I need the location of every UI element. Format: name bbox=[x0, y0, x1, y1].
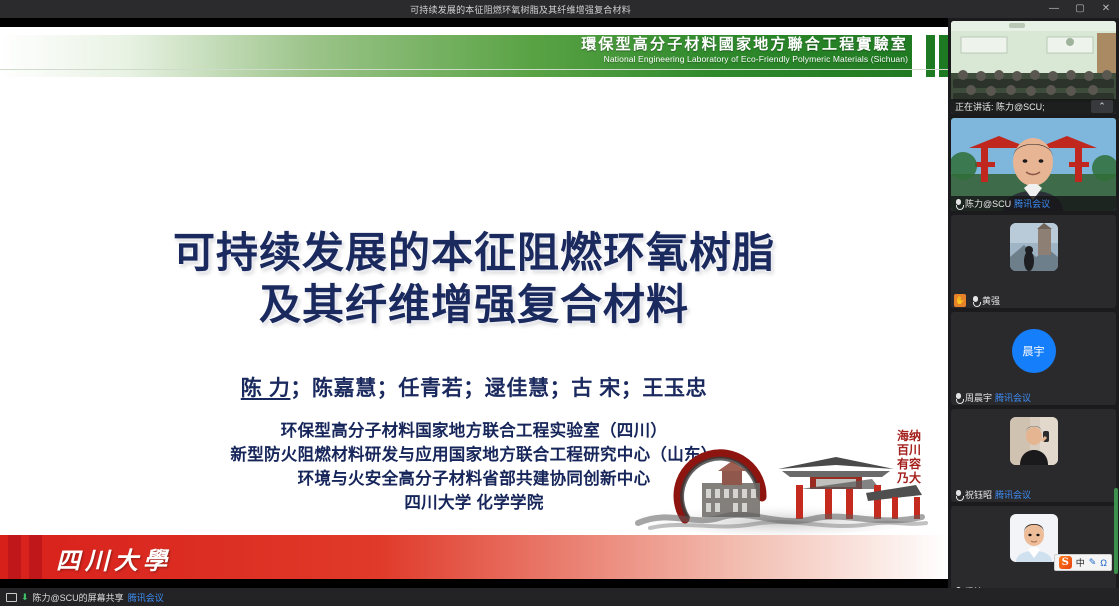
slide-title: 可持续发展的本征阻燃环氧树脂 及其纤维增强复合材料 bbox=[0, 227, 948, 331]
author-list: 陈 力；陈嘉慧；任青若；逯佳慧；古 宋；王玉忠 bbox=[0, 372, 948, 402]
participant-name: 祝钰昭 bbox=[965, 488, 992, 501]
participant-initial-avatar: 晨宇 bbox=[1012, 329, 1056, 373]
participant-name: 周晨宇 bbox=[965, 391, 992, 404]
window-controls: — ▢ ✕ bbox=[1041, 0, 1119, 18]
screen-share-text: 陈力@SCU的屏幕共享 bbox=[33, 591, 124, 604]
participant-rail[interactable]: 正在讲话: 陈力@SCU; ⌃ bbox=[948, 18, 1119, 588]
ime-mode-toggle[interactable]: 中 bbox=[1076, 556, 1085, 569]
participant-tile[interactable]: ✋ 黄强 bbox=[951, 215, 1116, 308]
download-arrow-icon: ⬇ bbox=[21, 592, 29, 603]
ime-toolbar[interactable]: S 中 ✎ Ω bbox=[1054, 554, 1112, 571]
window-title: 可持续发展的本征阻燃环氧树脂及其纤维增强复合材料 bbox=[0, 3, 1041, 16]
scu-wordmark-logo: 四川大學 bbox=[56, 541, 172, 573]
speaking-status-text: 正在讲话: 陈力@SCU; bbox=[955, 100, 1045, 113]
participant-tile[interactable]: 晨宇 周晨宇 腾讯会议 bbox=[951, 312, 1116, 405]
slide-title-line-1: 可持续发展的本征阻燃环氧树脂 bbox=[0, 227, 948, 279]
campus-ink-svg bbox=[630, 427, 930, 537]
presenting-author: 陈 力 bbox=[241, 377, 291, 400]
participant-tile[interactable]: 陈力@SCU 腾讯会议 bbox=[951, 118, 1116, 211]
participant-client-tag: 腾讯会议 bbox=[995, 488, 1031, 501]
participant-avatar bbox=[1010, 223, 1058, 271]
participant-client-tag: 腾讯会议 bbox=[1014, 197, 1050, 210]
lab-banner: 環保型高分子材料國家地方聯合工程實驗室 National Engineering… bbox=[0, 35, 948, 77]
slide-footer-bar: 四川大學 bbox=[0, 535, 948, 579]
campus-ink-artwork: 海纳百川有容乃大 bbox=[630, 427, 930, 537]
collapse-panel-icon[interactable]: ⌃ bbox=[1091, 100, 1113, 113]
university-motto: 海纳百川有容乃大 bbox=[894, 429, 924, 486]
app-name-tag: 腾讯会议 bbox=[128, 591, 164, 604]
banner-title-cn: 環保型高分子材料國家地方聯合工程實驗室 bbox=[581, 37, 908, 53]
participant-name-label: 陈力@SCU 腾讯会议 bbox=[951, 196, 1116, 211]
banner-divider bbox=[0, 69, 948, 70]
presentation-slide: 環保型高分子材料國家地方聯合工程實驗室 National Engineering… bbox=[0, 27, 948, 579]
minimize-button[interactable]: — bbox=[1041, 0, 1067, 18]
shared-screen-stage[interactable]: 環保型高分子材料國家地方聯合工程實驗室 National Engineering… bbox=[0, 18, 948, 588]
participant-tile[interactable]: 正在讲话: 陈力@SCU; ⌃ bbox=[951, 21, 1116, 114]
microphone-icon bbox=[972, 296, 979, 306]
banner-bars-decor bbox=[912, 35, 948, 77]
sogou-ime-logo-icon[interactable]: S bbox=[1059, 556, 1072, 569]
meeting-shell: 環保型高分子材料國家地方聯合工程實驗室 National Engineering… bbox=[0, 18, 1119, 588]
participant-tile[interactable]: S 中 ✎ Ω 杨波@WTU bbox=[951, 506, 1116, 599]
participant-name: 陈力@SCU bbox=[965, 197, 1011, 210]
close-button[interactable]: ✕ bbox=[1093, 0, 1119, 18]
ime-symbols-icon[interactable]: Ω bbox=[1100, 558, 1107, 568]
monitor-icon bbox=[6, 593, 17, 602]
rail-scrollbar[interactable] bbox=[1114, 488, 1118, 574]
banner-text: 環保型高分子材料國家地方聯合工程實驗室 National Engineering… bbox=[581, 37, 908, 64]
participant-name-label: 黄强 bbox=[968, 293, 1004, 308]
ime-handwriting-icon[interactable]: ✎ bbox=[1089, 557, 1097, 568]
participant-avatar bbox=[1010, 417, 1058, 465]
banner-title-en: National Engineering Laboratory of Eco-F… bbox=[581, 55, 908, 64]
window-titlebar: 可持续发展的本征阻燃环氧树脂及其纤维增强复合材料 — ▢ ✕ bbox=[0, 0, 1119, 18]
raise-hand-icon: ✋ bbox=[954, 294, 966, 307]
footer-tick-decor bbox=[8, 535, 21, 579]
coauthors: ；陈嘉慧；任青若；逯佳慧；古 宋；王玉忠 bbox=[290, 377, 707, 400]
maximize-button[interactable]: ▢ bbox=[1067, 0, 1093, 18]
microphone-icon bbox=[955, 490, 962, 500]
participant-avatar bbox=[1010, 514, 1058, 562]
microphone-icon bbox=[955, 199, 962, 209]
participant-tile[interactable]: 祝钰昭 腾讯会议 bbox=[951, 409, 1116, 502]
slide-title-line-2: 及其纤维增强复合材料 bbox=[0, 279, 948, 331]
participant-name: 黄强 bbox=[982, 294, 1000, 307]
microphone-icon bbox=[955, 393, 962, 403]
footer-tick-decor bbox=[29, 535, 42, 579]
participant-name-label: 周晨宇 腾讯会议 bbox=[951, 390, 1035, 405]
participant-client-tag: 腾讯会议 bbox=[995, 391, 1031, 404]
participant-name-label: 祝钰昭 腾讯会议 bbox=[951, 487, 1035, 502]
screen-share-statusbar: ⬇ 陈力@SCU的屏幕共享 腾讯会议 bbox=[0, 588, 1119, 606]
